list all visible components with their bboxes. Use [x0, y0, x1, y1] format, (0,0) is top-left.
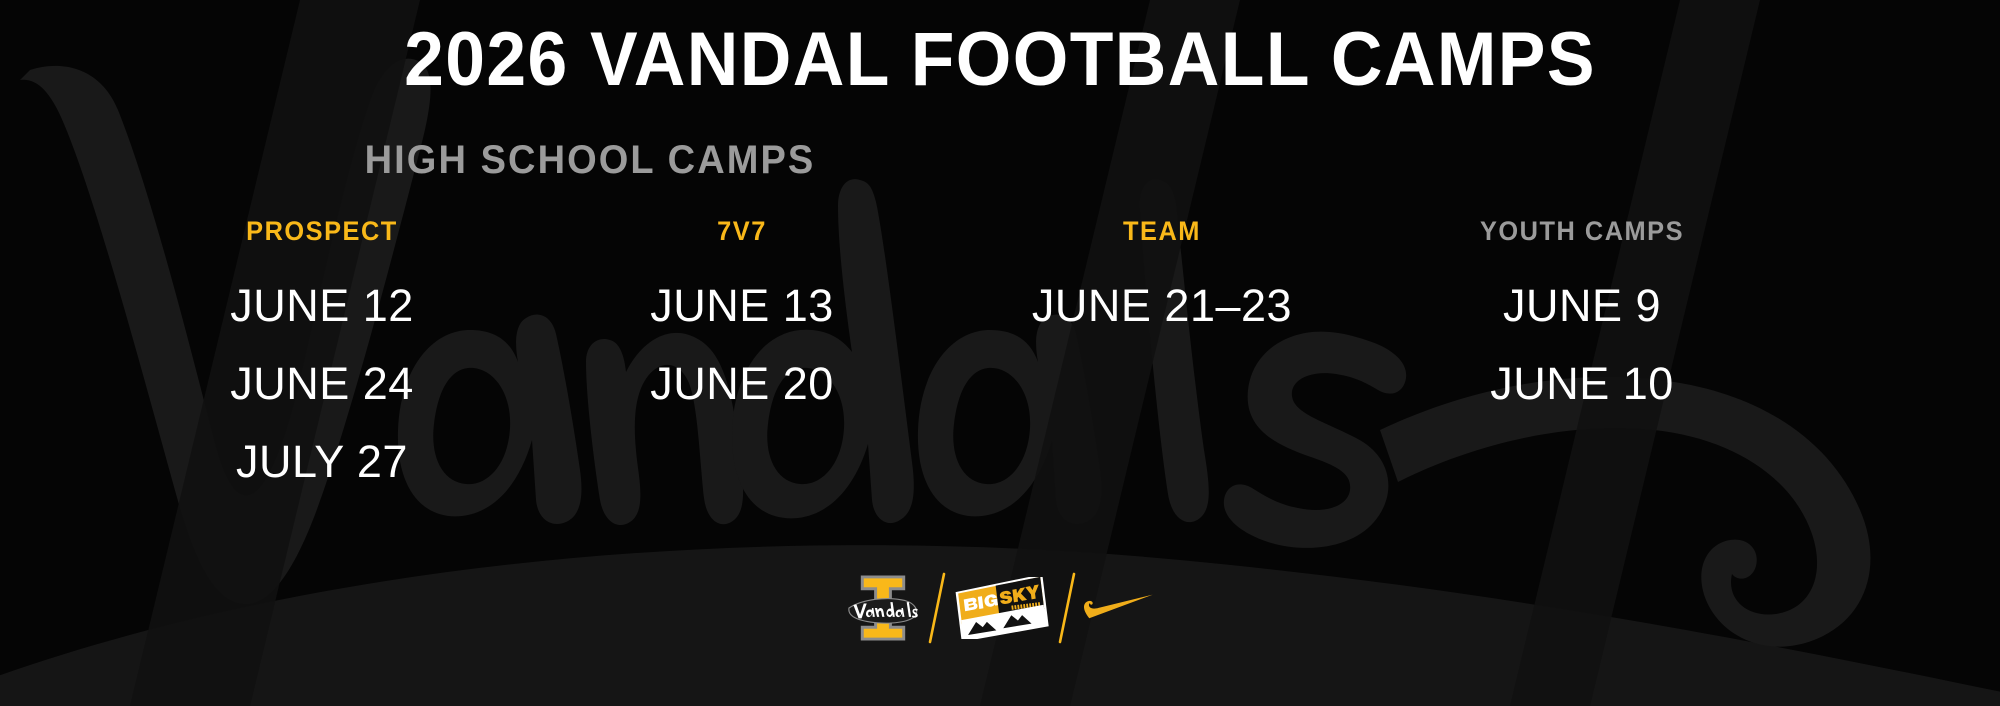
column-header-team: TEAM [965, 218, 1360, 245]
camp-column-7v7: 7V7 JUNE 13 JUNE 20 [532, 218, 952, 439]
camp-date: JUNE 9 [1372, 283, 1792, 328]
camp-date: JUNE 13 [532, 283, 952, 328]
camp-flyer: 2026 VANDAL FOOTBALL CAMPS HIGH SCHOOL C… [0, 0, 2000, 706]
camp-date: JUNE 24 [112, 361, 532, 406]
camp-column-youth: YOUTH CAMPS JUNE 9 JUNE 10 [1372, 218, 1792, 439]
big-sky-conference-logo [954, 572, 1050, 644]
slash-divider-icon [1050, 572, 1084, 644]
camp-date: JUNE 21–23 [952, 283, 1372, 328]
page-title: 2026 VANDAL FOOTBALL CAMPS [60, 22, 1940, 98]
idaho-vandals-logo [846, 572, 920, 644]
camp-column-team: TEAM JUNE 21–23 [952, 218, 1372, 361]
camp-date: JUNE 20 [532, 361, 952, 406]
camp-column-prospect: PROSPECT JUNE 12 JUNE 24 JULY 27 [112, 218, 532, 517]
camp-date: JULY 27 [112, 439, 532, 484]
column-header-7v7: 7V7 [545, 218, 940, 245]
camp-schedule-grid: PROSPECT JUNE 12 JUNE 24 JULY 27 7V7 JUN… [112, 218, 1792, 517]
sponsor-logo-bar [0, 568, 2000, 648]
page-subtitle: HIGH SCHOOL CAMPS [30, 140, 1151, 180]
camp-date: JUNE 10 [1372, 361, 1792, 406]
column-header-youth: YOUTH CAMPS [1385, 218, 1780, 245]
nike-swoosh-logo [1084, 572, 1154, 644]
camp-date: JUNE 12 [112, 283, 532, 328]
column-header-prospect: PROSPECT [125, 218, 520, 245]
slash-divider-icon [920, 572, 954, 644]
